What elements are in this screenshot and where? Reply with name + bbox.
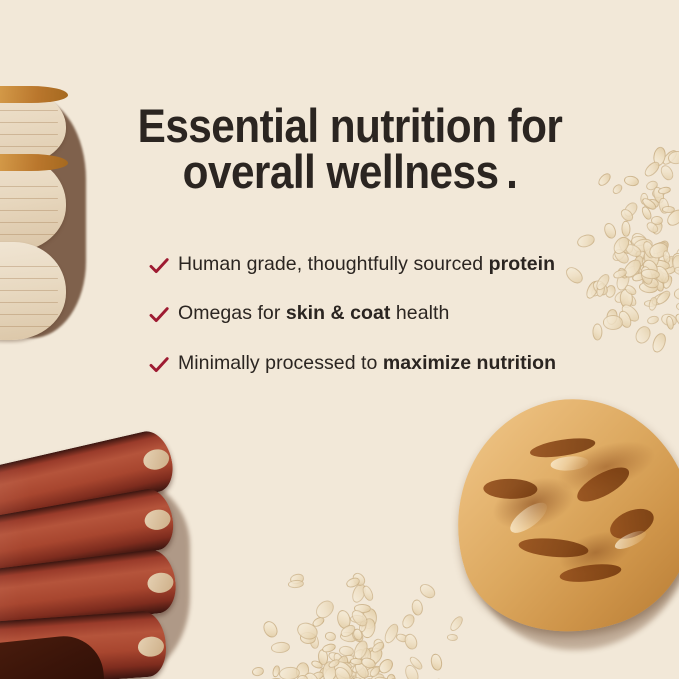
oat-flake xyxy=(260,619,280,640)
sliced-steak-photo xyxy=(0,446,210,679)
list-item: Minimally processed to maximize nutritio… xyxy=(148,351,568,376)
list-item: Human grade, thoughtfully sourced protei… xyxy=(148,252,568,277)
sliced-roast-turkey-photo xyxy=(0,84,88,340)
rolled-oats-photo xyxy=(246,498,446,679)
oat-flake xyxy=(674,288,679,300)
oat-flake xyxy=(417,582,438,602)
check-icon xyxy=(148,354,170,376)
check-icon xyxy=(148,304,170,326)
check-icon xyxy=(148,255,170,277)
oat-flake xyxy=(410,598,424,616)
oat-flake xyxy=(271,642,291,654)
oat-flake xyxy=(361,584,375,602)
list-item: Omegas for skin & coat health xyxy=(148,301,568,326)
list-item-label: Omegas for skin & coat health xyxy=(178,301,449,326)
oat-flake xyxy=(430,653,444,672)
roasted-chicken-breast-photo xyxy=(448,392,679,664)
list-item-label: Minimally processed to maximize nutritio… xyxy=(178,351,556,376)
oat-flake xyxy=(252,666,266,677)
oat-flake xyxy=(623,175,640,188)
oat-flake xyxy=(603,315,623,330)
oat-flake xyxy=(324,631,337,642)
oat-flake xyxy=(288,580,305,590)
oat-flake xyxy=(403,632,420,651)
product-benefits-poster: Essential nutrition for overall wellness… xyxy=(0,0,679,679)
oat-flake xyxy=(633,324,653,346)
oat-flake xyxy=(592,323,602,340)
oat-flake xyxy=(400,612,417,630)
benefits-list: Human grade, thoughtfully sourced protei… xyxy=(148,252,568,376)
oat-flake xyxy=(621,221,631,237)
headline-period: . xyxy=(499,145,518,198)
oat-flake xyxy=(601,221,617,240)
turkey-crust xyxy=(0,86,68,103)
oat-flake xyxy=(674,266,679,277)
turkey-crust xyxy=(0,154,68,171)
oat-flake xyxy=(650,331,668,354)
oat-flake xyxy=(596,171,613,188)
oat-flake xyxy=(646,315,660,326)
oat-flake xyxy=(576,232,597,249)
oat-flake xyxy=(611,182,625,196)
oat-flake xyxy=(658,164,675,183)
list-item-label: Human grade, thoughtfully sourced protei… xyxy=(178,252,555,277)
oat-flake xyxy=(658,186,672,195)
page-title: Essential nutrition for overall wellness… xyxy=(116,103,584,194)
oat-flake xyxy=(297,675,308,679)
